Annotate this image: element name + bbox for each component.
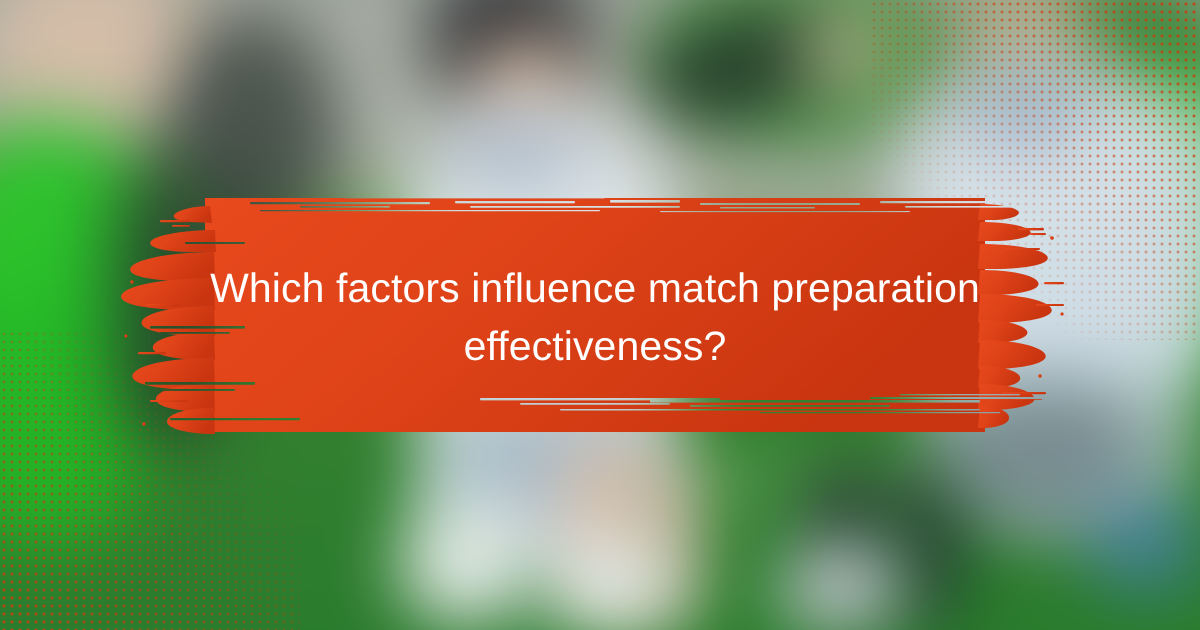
right-player-shoe-2 <box>1090 500 1200 590</box>
headline-line-1: Which factors influence match preparatio… <box>210 259 980 317</box>
headline-block: Which factors influence match preparatio… <box>210 186 980 448</box>
center-player-collar <box>440 120 590 190</box>
share-card: Which factors influence match preparatio… <box>0 0 1200 630</box>
right-player-shoe <box>780 545 900 630</box>
headline-line-2: effectiveness? <box>210 317 980 375</box>
right-player-collar <box>950 70 1100 150</box>
page-title: Which factors influence match preparatio… <box>210 259 980 375</box>
headline-banner: Which factors influence match preparatio… <box>0 186 1200 448</box>
soccer-ball <box>400 505 530 625</box>
right-player-sock-2 <box>890 470 960 630</box>
center-player-shoe <box>540 540 680 630</box>
center-player-hand <box>800 10 890 90</box>
